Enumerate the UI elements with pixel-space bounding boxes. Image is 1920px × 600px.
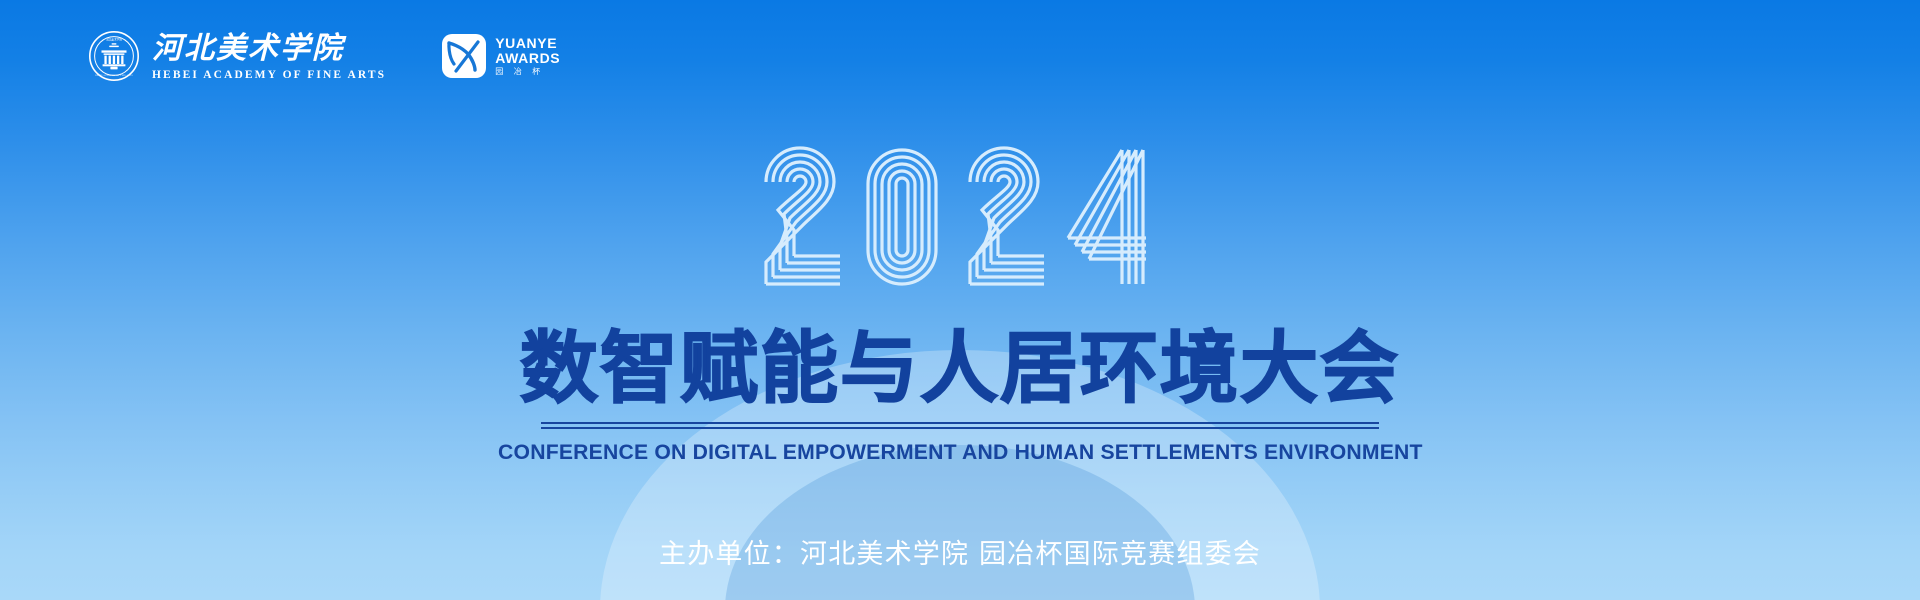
svg-text:HEBEI ACADEMY OF FINE ARTS: HEBEI ACADEMY OF FINE ARTS xyxy=(95,74,133,77)
conference-banner: 河北美术学院 HEBEI ACADEMY OF FINE ARTS 河北美术学院… xyxy=(0,0,1920,600)
organizer-line: 主办单位：河北美术学院 园冶杯国际竞赛组委会 xyxy=(0,532,1920,571)
year-2024-icon xyxy=(760,140,1160,290)
year-2024-graphic xyxy=(0,140,1920,290)
university-seal-icon: 河北美术学院 HEBEI ACADEMY OF FINE ARTS xyxy=(88,30,140,82)
title-divider xyxy=(541,422,1379,429)
hebei-academy-name-cn-icon: 河北美术学院 xyxy=(152,31,386,65)
page-subtitle: CONFERENCE ON DIGITAL EMPOWERMENT AND HU… xyxy=(498,440,1423,465)
inner-dome-shape xyxy=(725,445,1195,600)
header-logos: 河北美术学院 HEBEI ACADEMY OF FINE ARTS 河北美术学院… xyxy=(88,30,560,82)
yuanye-line2: AWARDS xyxy=(495,51,560,65)
page-title: 数智赋能与人居环境大会 xyxy=(520,330,1400,408)
title-block: 数智赋能与人居环境大会 CONFERENCE ON DIGITAL EMPOWE… xyxy=(0,330,1920,465)
yuanye-name-cn: 园 冶 杯 xyxy=(495,68,560,76)
yuanye-leaf-mark-icon xyxy=(442,34,486,78)
yuanye-awards-logo[interactable]: YUANYE AWARDS 园 冶 杯 xyxy=(442,34,560,78)
hebei-academy-logo[interactable]: 河北美术学院 HEBEI ACADEMY OF FINE ARTS 河北美术学院… xyxy=(88,30,386,82)
svg-text:河北美术学院: 河北美术学院 xyxy=(106,38,122,42)
yuanye-line1: YUANYE xyxy=(495,36,560,50)
svg-text:河北美术学院: 河北美术学院 xyxy=(152,31,347,65)
hebei-academy-name-en: HEBEI ACADEMY OF FINE ARTS xyxy=(152,70,386,82)
